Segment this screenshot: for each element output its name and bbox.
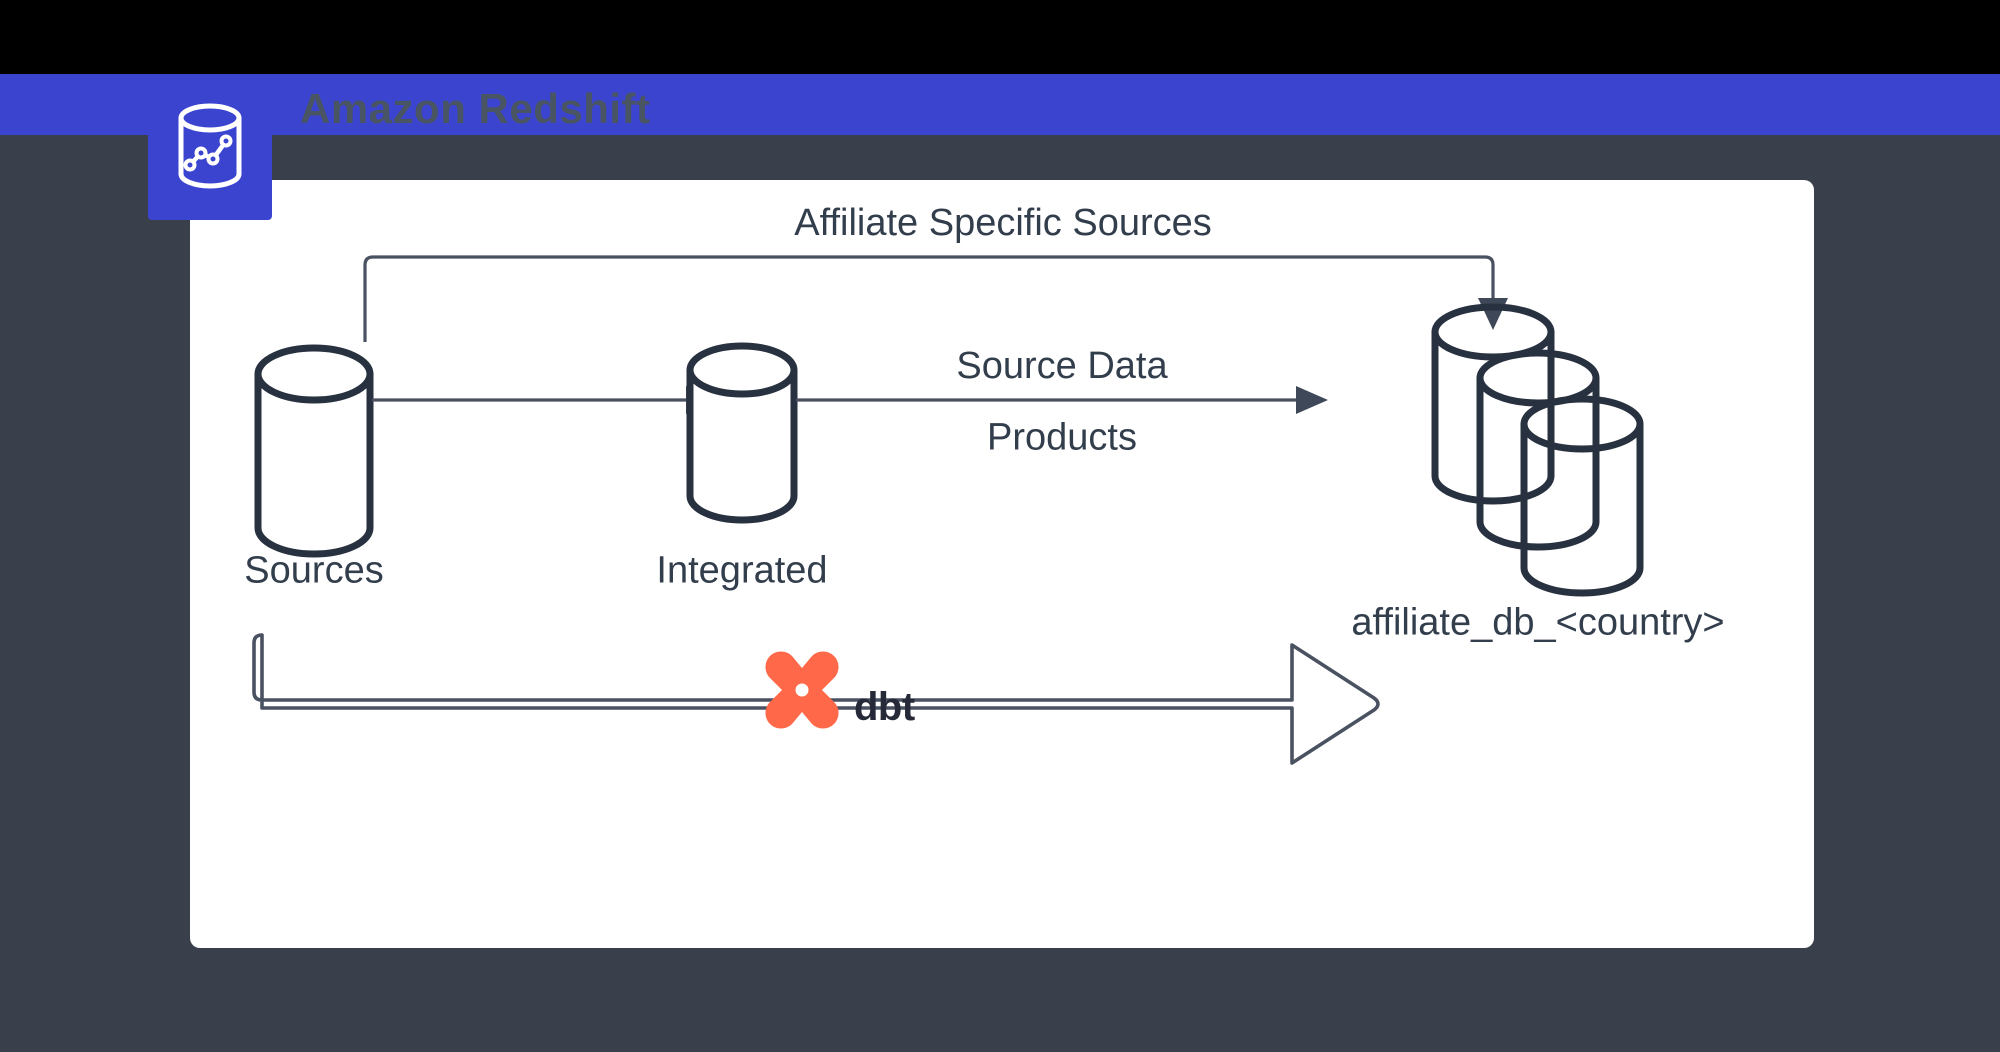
node-label-sources: Sources bbox=[244, 549, 383, 591]
page-title: Amazon Redshift bbox=[300, 88, 651, 130]
architecture-diagram: Affiliate Specific Sources Sources Integ… bbox=[190, 180, 1814, 948]
edge-label-source-data: Source Data bbox=[956, 345, 1168, 387]
node-sources bbox=[258, 348, 370, 554]
dbt-wordmark: dbt bbox=[854, 685, 915, 729]
arrowhead-icon bbox=[1296, 386, 1328, 414]
node-affiliate-db-stack bbox=[1435, 307, 1640, 593]
edge-integrated-to-affiliate bbox=[796, 386, 1328, 414]
edge-sources-to-integrated bbox=[372, 386, 718, 414]
node-integrated bbox=[690, 346, 794, 520]
redshift-database-chart-icon bbox=[173, 101, 247, 193]
top-black-strip bbox=[0, 0, 2000, 74]
arrowhead-icon bbox=[1478, 298, 1508, 330]
node-label-integrated: Integrated bbox=[656, 549, 827, 591]
node-label-affiliate-db: affiliate_db_<country> bbox=[1351, 601, 1724, 643]
edge-label-products: Products bbox=[987, 416, 1137, 458]
redshift-brand-tile bbox=[148, 74, 272, 220]
edge-sources-to-affiliate bbox=[365, 257, 1508, 342]
screenshot-root: Affiliate Specific Sources Sources Integ… bbox=[0, 0, 2000, 1052]
cylinder-front bbox=[1524, 399, 1640, 593]
dbt-logo bbox=[766, 652, 839, 729]
edge-label-affiliate-specific-sources: Affiliate Specific Sources bbox=[794, 202, 1212, 244]
